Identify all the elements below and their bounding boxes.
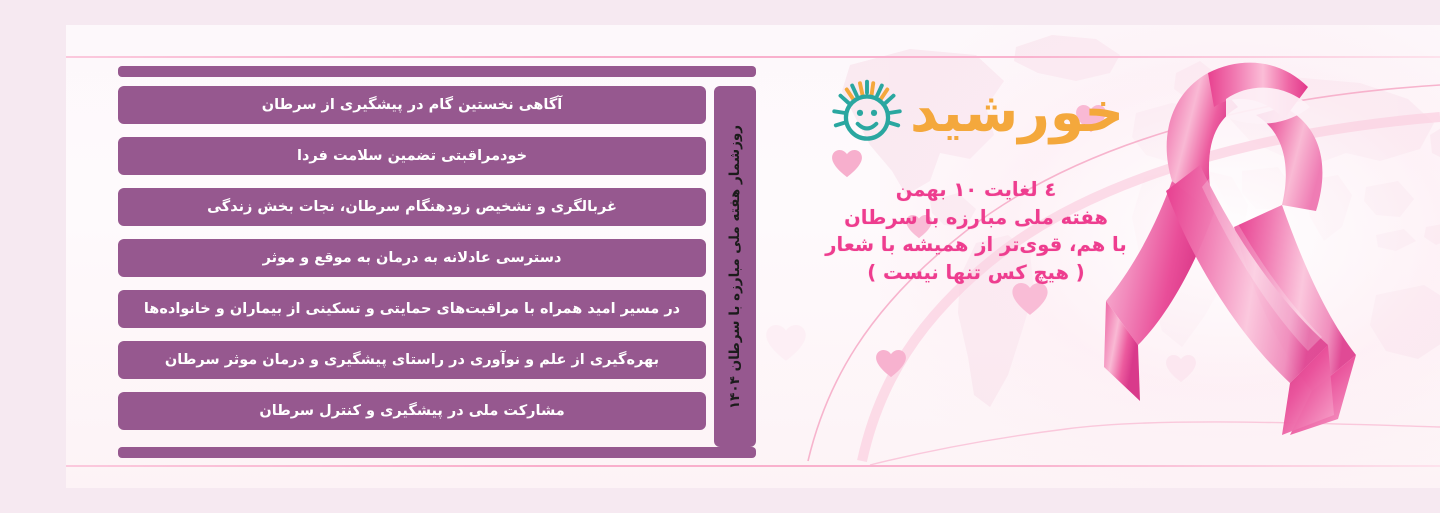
smiling-sun-icon bbox=[828, 77, 906, 155]
slogan-item[interactable]: دسترسی عادلانه به درمان به موقع و موثر bbox=[118, 239, 706, 277]
slogan-block: آگاهی نخستین گام در پیشگیری از سرطان خود… bbox=[118, 66, 756, 458]
panel-rule-bottom bbox=[66, 465, 1440, 467]
headline: ٤ لغایت ١٠ بهمن هفته ملی مبارزه با سرطان… bbox=[766, 176, 1186, 287]
pink-heart-decoration bbox=[766, 325, 806, 362]
vertical-title-label: روزشمار هفته ملی مبارزه با سرطان ۱۴۰۴ bbox=[727, 124, 743, 408]
campaign-banner: آگاهی نخستین گام در پیشگیری از سرطان خود… bbox=[0, 0, 1440, 513]
inner-panel: آگاهی نخستین گام در پیشگیری از سرطان خود… bbox=[66, 25, 1440, 488]
pink-heart-decoration bbox=[1012, 283, 1048, 316]
slogan-item[interactable]: بهره‌گیری از علم و نوآوری در راستای پیشگ… bbox=[118, 341, 706, 379]
slogan-item[interactable]: خودمراقبتی تضمین سلامت فردا bbox=[118, 137, 706, 175]
headline-line-2: هفته ملی مبارزه با سرطان bbox=[766, 204, 1186, 232]
headline-line-1: ٤ لغایت ١٠ بهمن bbox=[766, 176, 1186, 204]
slogan-item[interactable]: مشارکت ملی در پیشگیری و کنترل سرطان bbox=[118, 392, 706, 430]
slogan-list: آگاهی نخستین گام در پیشگیری از سرطان خود… bbox=[118, 86, 706, 430]
logo-wordmark: خورشید bbox=[910, 85, 1124, 140]
vertical-title-tab: روزشمار هفته ملی مبارزه با سرطان ۱۴۰۴ bbox=[714, 86, 756, 447]
headline-line-4: ( هیچ کس تنها نیست ) bbox=[766, 259, 1186, 287]
headline-line-3: با هم، قوی‌تر از همیشه با شعار bbox=[766, 231, 1186, 259]
slogan-cap-bar-top bbox=[118, 66, 756, 77]
slogan-cap-bar-bottom bbox=[118, 447, 756, 458]
slogan-item[interactable]: در مسیر امید همراه با مراقبت‌های حمایتی … bbox=[118, 290, 706, 328]
right-content: خورشید bbox=[766, 70, 1186, 287]
slogan-item[interactable]: آگاهی نخستین گام در پیشگیری از سرطان bbox=[118, 86, 706, 124]
khorshid-logo: خورشید bbox=[766, 70, 1186, 162]
pink-heart-decoration bbox=[1246, 275, 1270, 297]
pink-heart-decoration bbox=[1166, 355, 1196, 383]
pink-heart-decoration bbox=[876, 350, 906, 378]
slogan-item[interactable]: غربالگری و تشخیص زودهنگام سرطان، نجات بخ… bbox=[118, 188, 706, 226]
panel-rule-top bbox=[66, 56, 1440, 58]
